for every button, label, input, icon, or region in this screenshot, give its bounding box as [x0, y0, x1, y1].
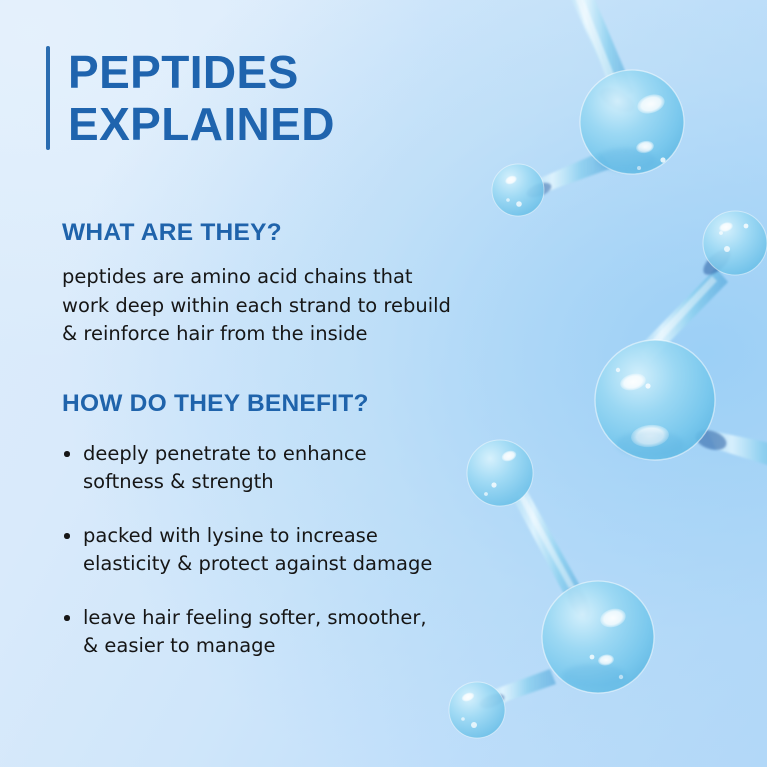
- list-item-line: leave hair feeling softer, smoother,: [83, 604, 432, 632]
- bullet-dot-icon: [64, 615, 70, 621]
- section-heading-how-do-they-benefit: HOW DO THEY BENEFIT?: [62, 390, 432, 418]
- title-accent-bar: [46, 46, 50, 150]
- page-title-line-2: EXPLAINED: [68, 99, 335, 151]
- section-what-are-they: WHAT ARE THEY? peptides are amino acid c…: [62, 219, 451, 349]
- list-item-line: packed with lysine to increase: [83, 522, 432, 550]
- list-item-line: & easier to manage: [83, 632, 432, 660]
- list-item-line: elasticity & protect against damage: [83, 550, 432, 578]
- paragraph-line: peptides are amino acid chains that: [62, 263, 451, 292]
- section-heading-what-are-they: WHAT ARE THEY?: [62, 219, 451, 247]
- paragraph-line: work deep within each strand to rebuild: [62, 292, 451, 321]
- list-item-line: softness & strength: [83, 468, 432, 496]
- page-title-line-1: PEPTIDES: [68, 47, 335, 99]
- paragraph-line: & reinforce hair from the inside: [62, 320, 451, 349]
- benefits-list: deeply penetrate to enhance softness & s…: [62, 440, 432, 660]
- page-title: PEPTIDES EXPLAINED: [68, 46, 335, 150]
- bullet-dot-icon: [64, 533, 70, 539]
- bullet-dot-icon: [64, 451, 70, 457]
- poster-title-block: PEPTIDES EXPLAINED: [46, 46, 335, 150]
- poster-content: PEPTIDES EXPLAINED WHAT ARE THEY? peptid…: [0, 0, 767, 767]
- list-item: deeply penetrate to enhance softness & s…: [62, 440, 432, 496]
- list-item-line: deeply penetrate to enhance: [83, 440, 432, 468]
- list-item: packed with lysine to increase elasticit…: [62, 522, 432, 578]
- list-item: leave hair feeling softer, smoother, & e…: [62, 604, 432, 660]
- peptides-explained-poster: PEPTIDES EXPLAINED WHAT ARE THEY? peptid…: [0, 0, 767, 767]
- section-how-do-they-benefit: HOW DO THEY BENEFIT? deeply penetrate to…: [62, 390, 432, 660]
- section-paragraph-what-are-they: peptides are amino acid chains that work…: [62, 263, 451, 349]
